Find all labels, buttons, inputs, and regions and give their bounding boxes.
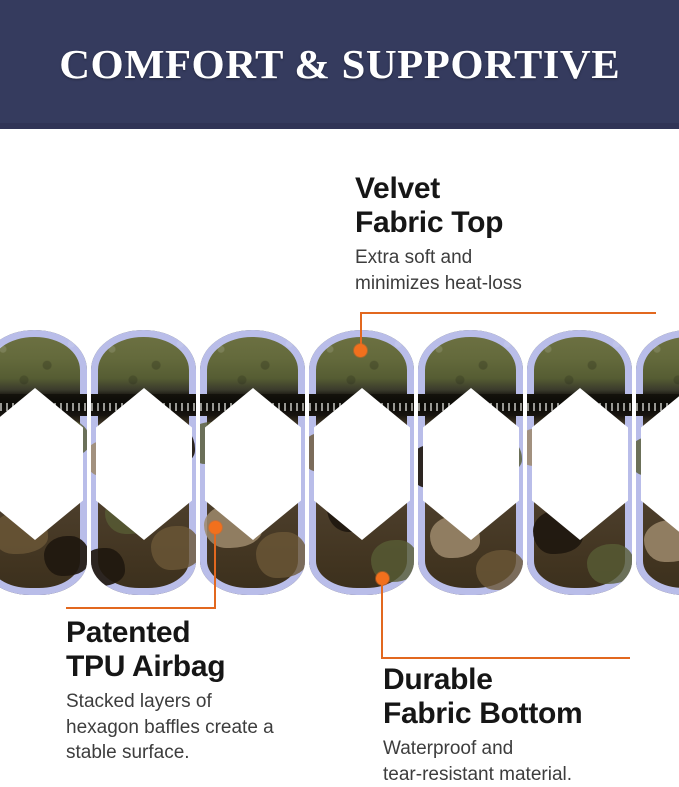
callout-dot-bottom	[376, 572, 389, 585]
leader-line-velvet-horizontal	[360, 312, 656, 314]
callout-title: Durable Fabric Bottom	[383, 663, 679, 731]
velvet-top-layer	[527, 330, 632, 394]
velvet-top-layer	[91, 330, 196, 394]
page-title: COMFORT & SUPPORTIVE	[59, 44, 620, 85]
velvet-top-layer	[418, 330, 523, 394]
callout-title: Patented TPU Airbag	[66, 616, 366, 684]
callout-description: Waterproof and tear-resistant material.	[383, 736, 679, 787]
baffle-column	[527, 330, 632, 595]
header-banner: COMFORT & SUPPORTIVE	[0, 0, 679, 129]
callout-patented-tpu-airbag: Patented TPU Airbag Stacked layers of he…	[66, 616, 366, 766]
velvet-top-layer	[200, 330, 305, 394]
velvet-top-layer	[0, 330, 87, 394]
callout-durable-fabric-bottom: Durable Fabric Bottom Waterproof and tea…	[383, 663, 679, 787]
leader-line-bottom-horizontal	[381, 657, 630, 659]
baffle-row	[0, 330, 679, 595]
callout-dot-velvet	[354, 344, 367, 357]
leader-line-bottom-vertical	[381, 578, 383, 658]
velvet-top-layer	[636, 330, 679, 394]
baffle-column	[309, 330, 414, 595]
callout-title: Velvet Fabric Top	[355, 172, 655, 240]
product-illustration	[0, 330, 679, 595]
baffle-column	[91, 330, 196, 595]
callout-description: Extra soft and minimizes heat-loss	[355, 245, 655, 296]
callout-description: Stacked layers of hexagon baffles create…	[66, 689, 366, 765]
leader-line-tpu-vertical	[214, 527, 216, 608]
baffle-column	[636, 330, 679, 595]
callout-dot-tpu	[209, 521, 222, 534]
baffle-column	[0, 330, 87, 595]
leader-line-tpu-horizontal	[66, 607, 216, 609]
callout-velvet-fabric-top: Velvet Fabric Top Extra soft and minimiz…	[355, 172, 655, 296]
baffle-column	[418, 330, 523, 595]
